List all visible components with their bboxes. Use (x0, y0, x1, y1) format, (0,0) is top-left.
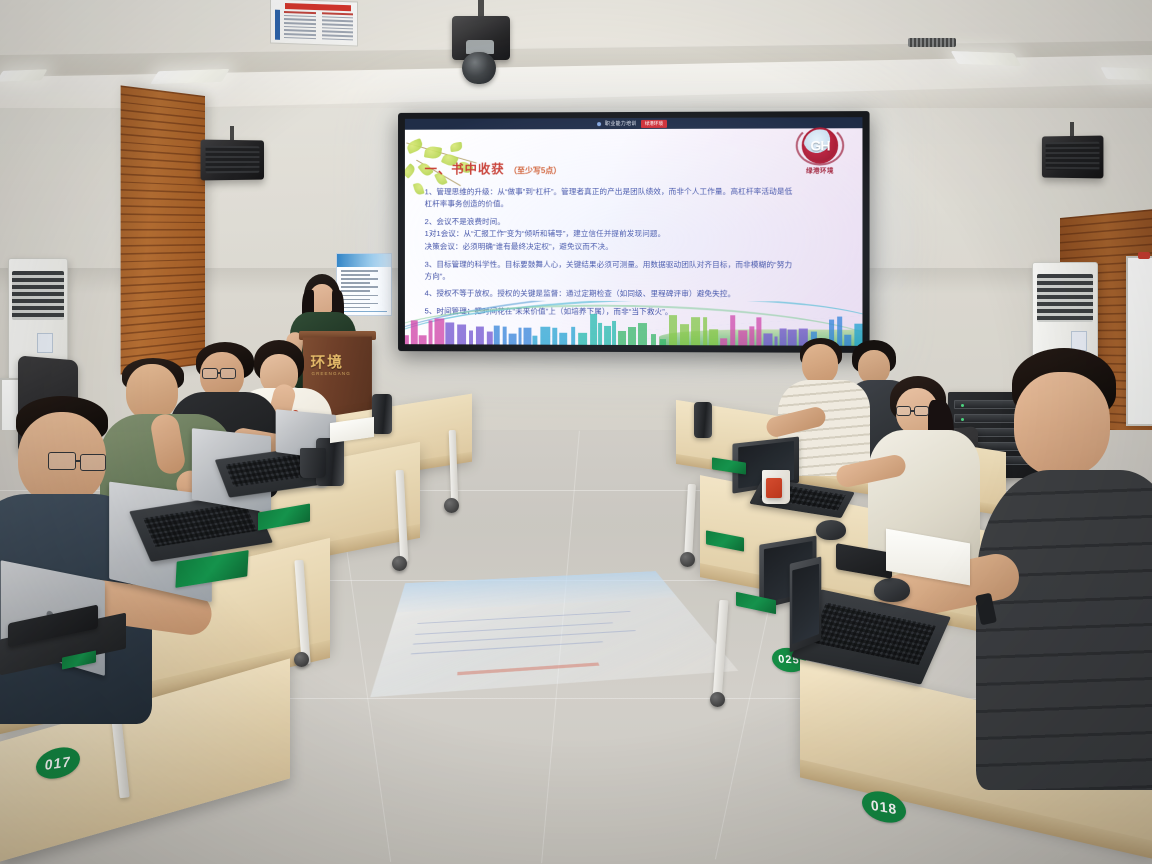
skyline-building (524, 328, 531, 345)
skyline-building (757, 317, 762, 345)
table-caster (710, 692, 725, 707)
slide-point: 4、授权不等于放权。授权的关键是监督：通过定期检查（如同级、里程碑评审）避免失控… (425, 288, 800, 301)
skyline-building (660, 339, 667, 345)
slide-point: 1对1会议：从“汇报工作”变为“倾听和辅导”，建立信任并提前发现问题。 (425, 228, 800, 240)
eyeglasses-bridge (911, 410, 915, 412)
ac-grille-icon (1037, 274, 1093, 322)
skyline-building (552, 328, 557, 345)
skyline-building (709, 329, 718, 345)
ac-spec-label (37, 333, 53, 353)
ac-grille-icon (12, 271, 63, 321)
person-torso (976, 470, 1152, 790)
table-caster (444, 498, 459, 513)
table-caster (392, 556, 407, 571)
ceiling-panel-light (150, 69, 230, 84)
logo-company-name: 绿港环境 (794, 165, 847, 175)
poster-text-rows (284, 11, 353, 43)
presentation-display[interactable]: 职业能力培训 绿港环境 GH 绿港环境 (398, 111, 870, 353)
eyeglasses-icon (896, 406, 911, 416)
poster-header-bar (285, 3, 351, 11)
slide-canvas: 职业能力培训 绿港环境 GH 绿港环境 (405, 117, 863, 346)
eyeglasses-icon (48, 452, 76, 470)
skyline-building (638, 323, 647, 345)
company-logo: GH 绿港环境 (794, 125, 847, 177)
coffee-mug[interactable] (300, 448, 326, 478)
projector-lens (462, 52, 496, 84)
speaker-right (1042, 136, 1104, 179)
slide-point: 3、目标管理的科学性。目标要鼓舞人心，关键结果必须可测量。用数据驱动团队对齐目标… (425, 259, 800, 283)
slide-point: 2、会议不是浪费时间。 (425, 215, 800, 227)
mug-print (766, 478, 782, 498)
person-head (802, 344, 838, 384)
logo-monogram: GH (802, 127, 838, 163)
skyline-building (429, 320, 432, 344)
skyline-building (604, 325, 611, 344)
skyline-building (487, 332, 493, 345)
skyline-building (703, 317, 708, 345)
skyline-building (628, 327, 635, 345)
skyline-building (559, 333, 567, 345)
water-bottle[interactable] (694, 402, 712, 438)
speaker-left (201, 140, 264, 181)
ceiling-panel-light (0, 69, 48, 82)
eyeglasses-icon (914, 406, 929, 416)
slide-title-suffix: （至少写5点） (509, 166, 561, 175)
skyline-building (612, 321, 616, 345)
skyline-building (458, 325, 467, 345)
skyline-building (541, 327, 550, 345)
person-head (1014, 372, 1110, 476)
skyline-building (411, 320, 418, 344)
slide-point: 决策会议：必须明确“谁有最终决定权”，避免议而不决。 (425, 241, 800, 253)
meeting-room-photo: 职业能力培训 绿港环境 GH 绿港环境 (0, 0, 1152, 864)
poster-header (337, 254, 391, 267)
p-right-4 (986, 348, 1152, 864)
slide-content: 一、书中收获 （至少写5点） 1、管理思维的升级：从“做事”到“杠杆”。管理者真… (425, 158, 800, 325)
skyline-building (763, 333, 772, 345)
skyline-building (651, 334, 656, 345)
skyline-building (469, 330, 473, 344)
slide-title: 一、书中收获 （至少写5点） (425, 158, 800, 178)
thermos-tumbler[interactable] (372, 394, 392, 434)
skyline-building (445, 322, 454, 344)
skyline-building (419, 336, 426, 345)
eyeglasses-bridge (75, 460, 81, 462)
skyline-building (571, 327, 575, 345)
skyline-building (739, 331, 748, 346)
topbar-dot-icon (597, 122, 601, 126)
ceiling-panel-light (1100, 67, 1152, 81)
skyline-building (680, 324, 689, 346)
skyline-building (590, 314, 596, 345)
topbar-title: 职业能力培训 (605, 120, 637, 127)
skyline-building (598, 323, 602, 345)
laptop-lid[interactable] (790, 556, 822, 652)
skyline-building (721, 338, 728, 345)
computer-mouse[interactable] (816, 520, 846, 540)
skyline-building (502, 326, 506, 344)
wood-slat-panel-left (121, 85, 205, 374)
skyline-building (434, 318, 443, 344)
flipchart-clip (1138, 252, 1150, 259)
projector-vent (908, 38, 956, 47)
skyline-building (578, 333, 586, 345)
skyline-building (533, 336, 538, 345)
skyline-building (508, 334, 516, 345)
skyline-building (749, 326, 754, 345)
skyline-building (691, 318, 700, 346)
skyline-building (730, 316, 735, 346)
skyline-building (518, 328, 521, 345)
skyline-building (494, 325, 500, 344)
table-caster (294, 652, 309, 667)
skyline-building (476, 327, 484, 345)
slide-point: 1、管理思维的升级：从“做事”到“杠杆”。管理者真正的产出是团队绩效，而非个人工… (425, 186, 800, 210)
skyline-building (618, 331, 626, 345)
topbar-badge: 绿港环境 (641, 119, 667, 127)
skyline-building (669, 315, 677, 345)
skyline-building (405, 335, 409, 344)
eyeglasses-icon (80, 454, 106, 471)
poster-side-bar (275, 10, 280, 40)
computer-mouse[interactable] (874, 578, 910, 602)
ceiling-panel-light (951, 51, 1022, 66)
ceiling-notice-poster (270, 0, 358, 47)
table-caster (680, 552, 695, 567)
slide-title-main: 一、书中收获 (425, 162, 505, 176)
